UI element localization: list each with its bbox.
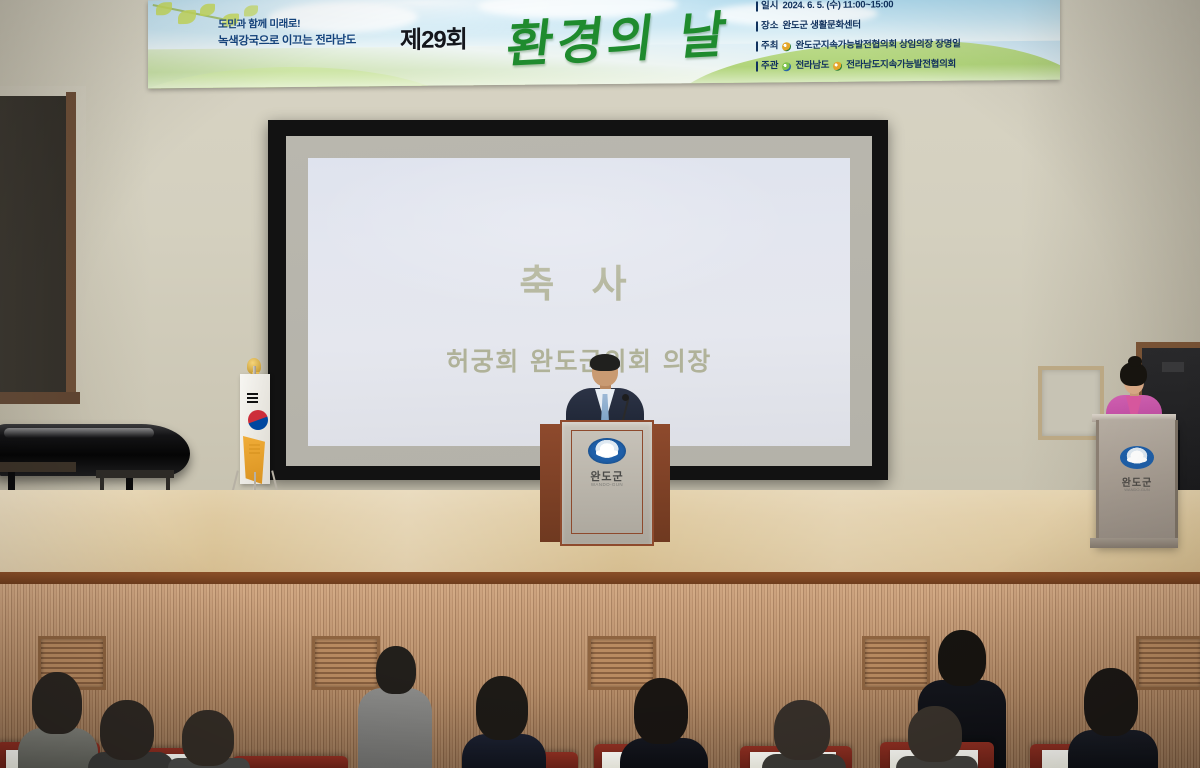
banner-info-block: 일시 2024. 6. 5. (수) 11:00~15:00 장소 완도군 생활… <box>756 0 1046 77</box>
info-label-host: 주최 <box>756 42 778 52</box>
audience-member <box>896 706 978 768</box>
flag-taeguk-circle <box>248 410 268 430</box>
event-photo-scene: 도민과 함께 미래로! 녹색강국으로 이끄는 전라남도 제29회 환경의 날 일… <box>0 0 1200 768</box>
piano-gloss-highlight <box>4 428 154 438</box>
audience-member <box>168 710 250 768</box>
av-equipment-box <box>1162 362 1184 372</box>
audience-head <box>376 646 416 694</box>
audience-head <box>182 710 234 766</box>
audience-member <box>18 672 98 768</box>
audience-head <box>938 630 986 686</box>
audience-head <box>908 706 962 762</box>
podium-front-panel: 완도군 WANDO-GUN <box>560 420 654 546</box>
stage-front-edge-trim <box>0 572 1200 584</box>
audience-member <box>620 678 708 768</box>
audience-head <box>476 676 528 740</box>
audience-head <box>1084 668 1138 736</box>
audience-head <box>32 672 82 734</box>
info-value-host: 완도군지속가능발전협의회 상임의장 장명일 <box>795 40 960 51</box>
piano-bench <box>0 462 76 472</box>
green-wheel-emblem-icon <box>833 61 842 70</box>
banner-slogan-line2: 녹색강국으로 이끄는 전라남도 <box>218 32 356 51</box>
audience-body <box>358 688 432 768</box>
audience-head <box>774 700 830 760</box>
banner-edition-number: 제29회 <box>400 19 467 55</box>
audience-member <box>762 700 846 768</box>
folding-table <box>96 470 174 478</box>
info-label-venue: 장소 <box>756 22 778 32</box>
banner-slogan: 도민과 함께 미래로! 녹색강국으로 이끄는 전라남도 <box>218 16 356 50</box>
banner-info-row-host: 주최 완도군지속가능발전협의회 상임의장 장명일 <box>756 34 1046 57</box>
podium-emblem-sublabel: WANDO-GUN <box>562 482 652 487</box>
flag-trigram <box>247 393 258 395</box>
banner-main-title: 환경의 날 <box>503 0 734 77</box>
info-value-venue: 완도군 생활문화센터 <box>782 21 860 31</box>
banner-info-row-venue: 장소 완도군 생활문화센터 <box>756 14 1046 37</box>
flag-trigram <box>247 397 258 399</box>
wando-county-emblem-icon <box>588 438 626 464</box>
flag-trigram <box>247 401 258 403</box>
info-value-datetime: 2024. 6. 5. (수) 11:00~15:00 <box>782 0 893 11</box>
right-podium-emblem-sublabel: WANDO-GUN <box>1099 487 1175 492</box>
banner-slogan-line1: 도민과 함께 미래로! <box>218 16 356 33</box>
right-podium-base <box>1090 538 1178 548</box>
audience-head <box>634 678 688 744</box>
event-banner: 도민과 함께 미래로! 녹색강국으로 이끄는 전라남도 제29회 환경의 날 일… <box>148 0 1060 88</box>
speaker-hair <box>590 354 620 371</box>
audience-body <box>18 728 98 768</box>
info-label-datetime: 일시 <box>756 2 778 12</box>
mc-hair-bun <box>1128 356 1142 367</box>
green-wheel-emblem-icon <box>782 42 791 51</box>
wall-framed-panel <box>1038 366 1104 440</box>
info-value-organizer-1: 전라남도 <box>795 61 829 71</box>
info-label-organizer: 주관 <box>756 62 778 72</box>
right-podium: 완도군 WANDO-GUN <box>1096 420 1178 546</box>
audience-member <box>358 646 432 768</box>
jeonnam-emblem-icon <box>782 62 791 71</box>
audience-member <box>88 700 174 768</box>
slide-title: 축 사 <box>308 253 850 308</box>
wando-county-emblem-icon <box>1120 446 1154 469</box>
audience-member <box>1068 668 1158 768</box>
audience-head <box>100 700 154 760</box>
main-podium: 완도군 WANDO-GUN <box>540 420 670 542</box>
audience-member <box>462 676 546 768</box>
info-value-organizer-2: 전라남도지속가능발전협의회 <box>846 60 956 71</box>
banner-info-row-organizer: 주관 전라남도 전라남도지속가능발전협의회 <box>756 54 1046 77</box>
microphone-icon <box>622 394 629 401</box>
